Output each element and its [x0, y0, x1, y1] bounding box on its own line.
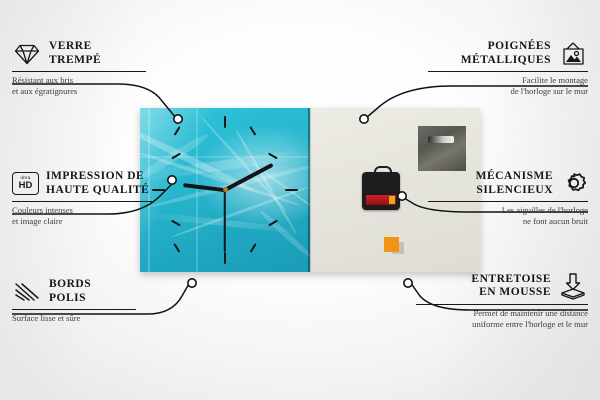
feature-subtitle-line1: Facilite le montage	[428, 75, 588, 86]
diamond-icon	[12, 42, 42, 66]
feature-rule	[12, 309, 136, 310]
feature-title: IMPRESSION DE	[46, 170, 149, 184]
feature-bords-polis: BORDS POLIS Surface lisse et sûre	[12, 278, 172, 324]
feature-rule	[12, 201, 154, 202]
leader-node-verre-trempe	[174, 115, 182, 123]
feature-title: VERRE	[49, 40, 101, 54]
feature-subtitle-line1: Permet de maintenir une distance	[416, 308, 588, 319]
leader-node-mecanisme	[398, 192, 406, 200]
arrow-layers-icon	[558, 272, 588, 300]
feature-title: POLIS	[49, 292, 91, 306]
feature-subtitle-line1: Surface lisse et sûre	[12, 313, 172, 324]
feature-subtitle-line1: Les aiguilles de l'horloge	[428, 205, 588, 216]
feature-title: SILENCIEUX	[476, 184, 553, 198]
feature-title: HAUTE QUALITÉ	[46, 184, 149, 198]
feature-subtitle-line2: ne font aucun bruit	[428, 216, 588, 227]
feature-subtitle-line1: Couleurs intenses	[12, 205, 172, 216]
feature-title: EN MOUSSE	[471, 286, 551, 300]
feature-subtitle-line2: uniforme entre l'horloge et le mur	[416, 319, 588, 330]
feature-subtitle-line2: et image claire	[12, 216, 172, 227]
feature-title: MÉTALLIQUES	[461, 54, 551, 68]
feature-impression-haute-qualite: ultra HD IMPRESSION DE HAUTE QUALITÉ Cou…	[12, 170, 172, 226]
leader-node-bords-polis	[188, 279, 196, 287]
gear-icon	[560, 171, 588, 197]
feature-rule	[12, 71, 146, 72]
feature-subtitle-line2: de l'horloge sur le mur	[428, 86, 588, 97]
feature-subtitle-line1: Résistant aux bris	[12, 75, 172, 86]
diagonal-lines-icon	[12, 280, 42, 304]
feature-poignees-metalliques: POIGNÉES MÉTALLIQUES Facilite le montage…	[428, 40, 588, 96]
leader-node-entretoise	[404, 279, 412, 287]
feature-subtitle-line2: et aux égratignures	[12, 86, 172, 97]
feature-rule	[428, 71, 588, 72]
feature-mecanisme-silencieux: MÉCANISME SILENCIEUX Les aiguilles de l'…	[428, 170, 588, 226]
feature-verre-trempe: VERRE TREMPÉ Résistant aux bris et aux é…	[12, 40, 172, 96]
feature-entretoise-en-mousse: ENTRETOISE EN MOUSSE Permet de maintenir…	[416, 272, 588, 329]
feature-title: BORDS	[49, 278, 91, 292]
feature-rule	[428, 201, 588, 202]
feature-title: TREMPÉ	[49, 54, 101, 68]
ultra-hd-icon-main: HD	[19, 181, 33, 191]
ultra-hd-icon: ultra HD	[12, 172, 39, 195]
feature-title: ENTRETOISE	[471, 273, 551, 287]
picture-frame-icon	[558, 41, 588, 67]
feature-title: POIGNÉES	[461, 40, 551, 54]
feature-rule	[416, 304, 588, 305]
leader-node-poignees	[360, 115, 368, 123]
feature-title: MÉCANISME	[476, 170, 553, 184]
infographic-canvas: VERRE TREMPÉ Résistant aux bris et aux é…	[0, 0, 600, 400]
